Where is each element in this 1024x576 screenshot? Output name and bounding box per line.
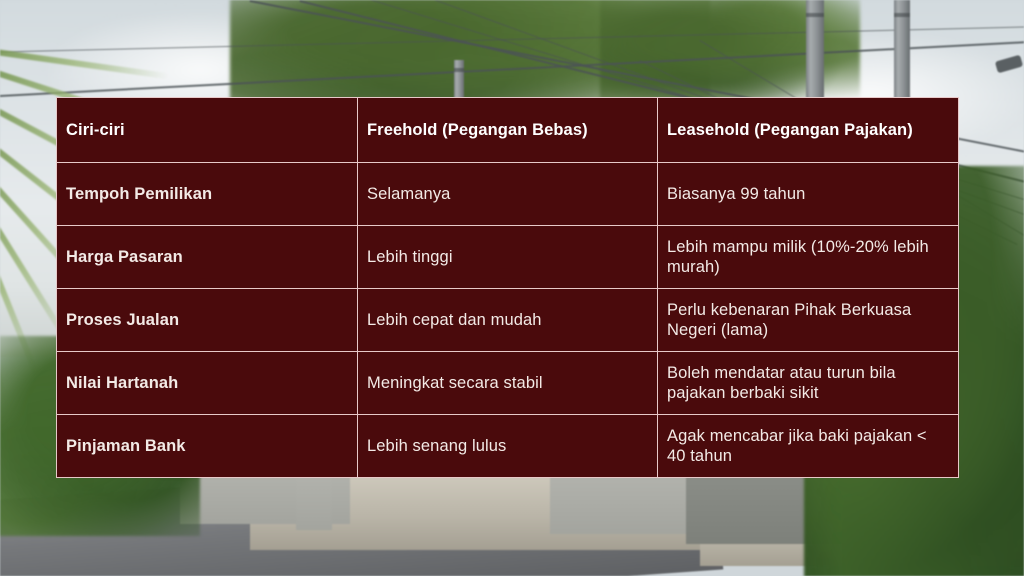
row-leasehold: Boleh mendatar atau turun bila pajakan b… <box>658 352 959 415</box>
slide-canvas: Ciri-ciri Freehold (Pegangan Bebas) Leas… <box>0 0 1024 576</box>
header-freehold: Freehold (Pegangan Bebas) <box>358 98 658 163</box>
row-freehold: Selamanya <box>358 163 658 226</box>
comparison-table: Ciri-ciri Freehold (Pegangan Bebas) Leas… <box>56 97 959 478</box>
table-row: Harga Pasaran Lebih tinggi Lebih mampu m… <box>57 226 959 289</box>
row-leasehold: Lebih mampu milik (10%-20% lebih murah) <box>658 226 959 289</box>
row-feature: Tempoh Pemilikan <box>57 163 358 226</box>
table-row: Tempoh Pemilikan Selamanya Biasanya 99 t… <box>57 163 959 226</box>
table-row: Pinjaman Bank Lebih senang lulus Agak me… <box>57 415 959 478</box>
header-ciri-ciri: Ciri-ciri <box>57 98 358 163</box>
utility-pole <box>806 0 824 98</box>
table-header-row: Ciri-ciri Freehold (Pegangan Bebas) Leas… <box>57 98 959 163</box>
row-feature: Nilai Hartanah <box>57 352 358 415</box>
table-row: Nilai Hartanah Meningkat secara stabil B… <box>57 352 959 415</box>
table-header: Ciri-ciri Freehold (Pegangan Bebas) Leas… <box>57 98 959 163</box>
row-freehold: Lebih tinggi <box>358 226 658 289</box>
table-row: Proses Jualan Lebih cepat dan mudah Perl… <box>57 289 959 352</box>
header-leasehold: Leasehold (Pegangan Pajakan) <box>658 98 959 163</box>
row-freehold: Lebih cepat dan mudah <box>358 289 658 352</box>
row-leasehold: Perlu kebenaran Pihak Berkuasa Negeri (l… <box>658 289 959 352</box>
row-leasehold: Biasanya 99 tahun <box>658 163 959 226</box>
row-feature: Proses Jualan <box>57 289 358 352</box>
comparison-table-container: Ciri-ciri Freehold (Pegangan Bebas) Leas… <box>56 97 958 478</box>
table-body: Tempoh Pemilikan Selamanya Biasanya 99 t… <box>57 163 959 478</box>
row-freehold: Meningkat secara stabil <box>358 352 658 415</box>
row-feature: Pinjaman Bank <box>57 415 358 478</box>
row-leasehold: Agak mencabar jika baki pajakan < 40 tah… <box>658 415 959 478</box>
row-feature: Harga Pasaran <box>57 226 358 289</box>
row-freehold: Lebih senang lulus <box>358 415 658 478</box>
utility-pole <box>894 0 910 98</box>
